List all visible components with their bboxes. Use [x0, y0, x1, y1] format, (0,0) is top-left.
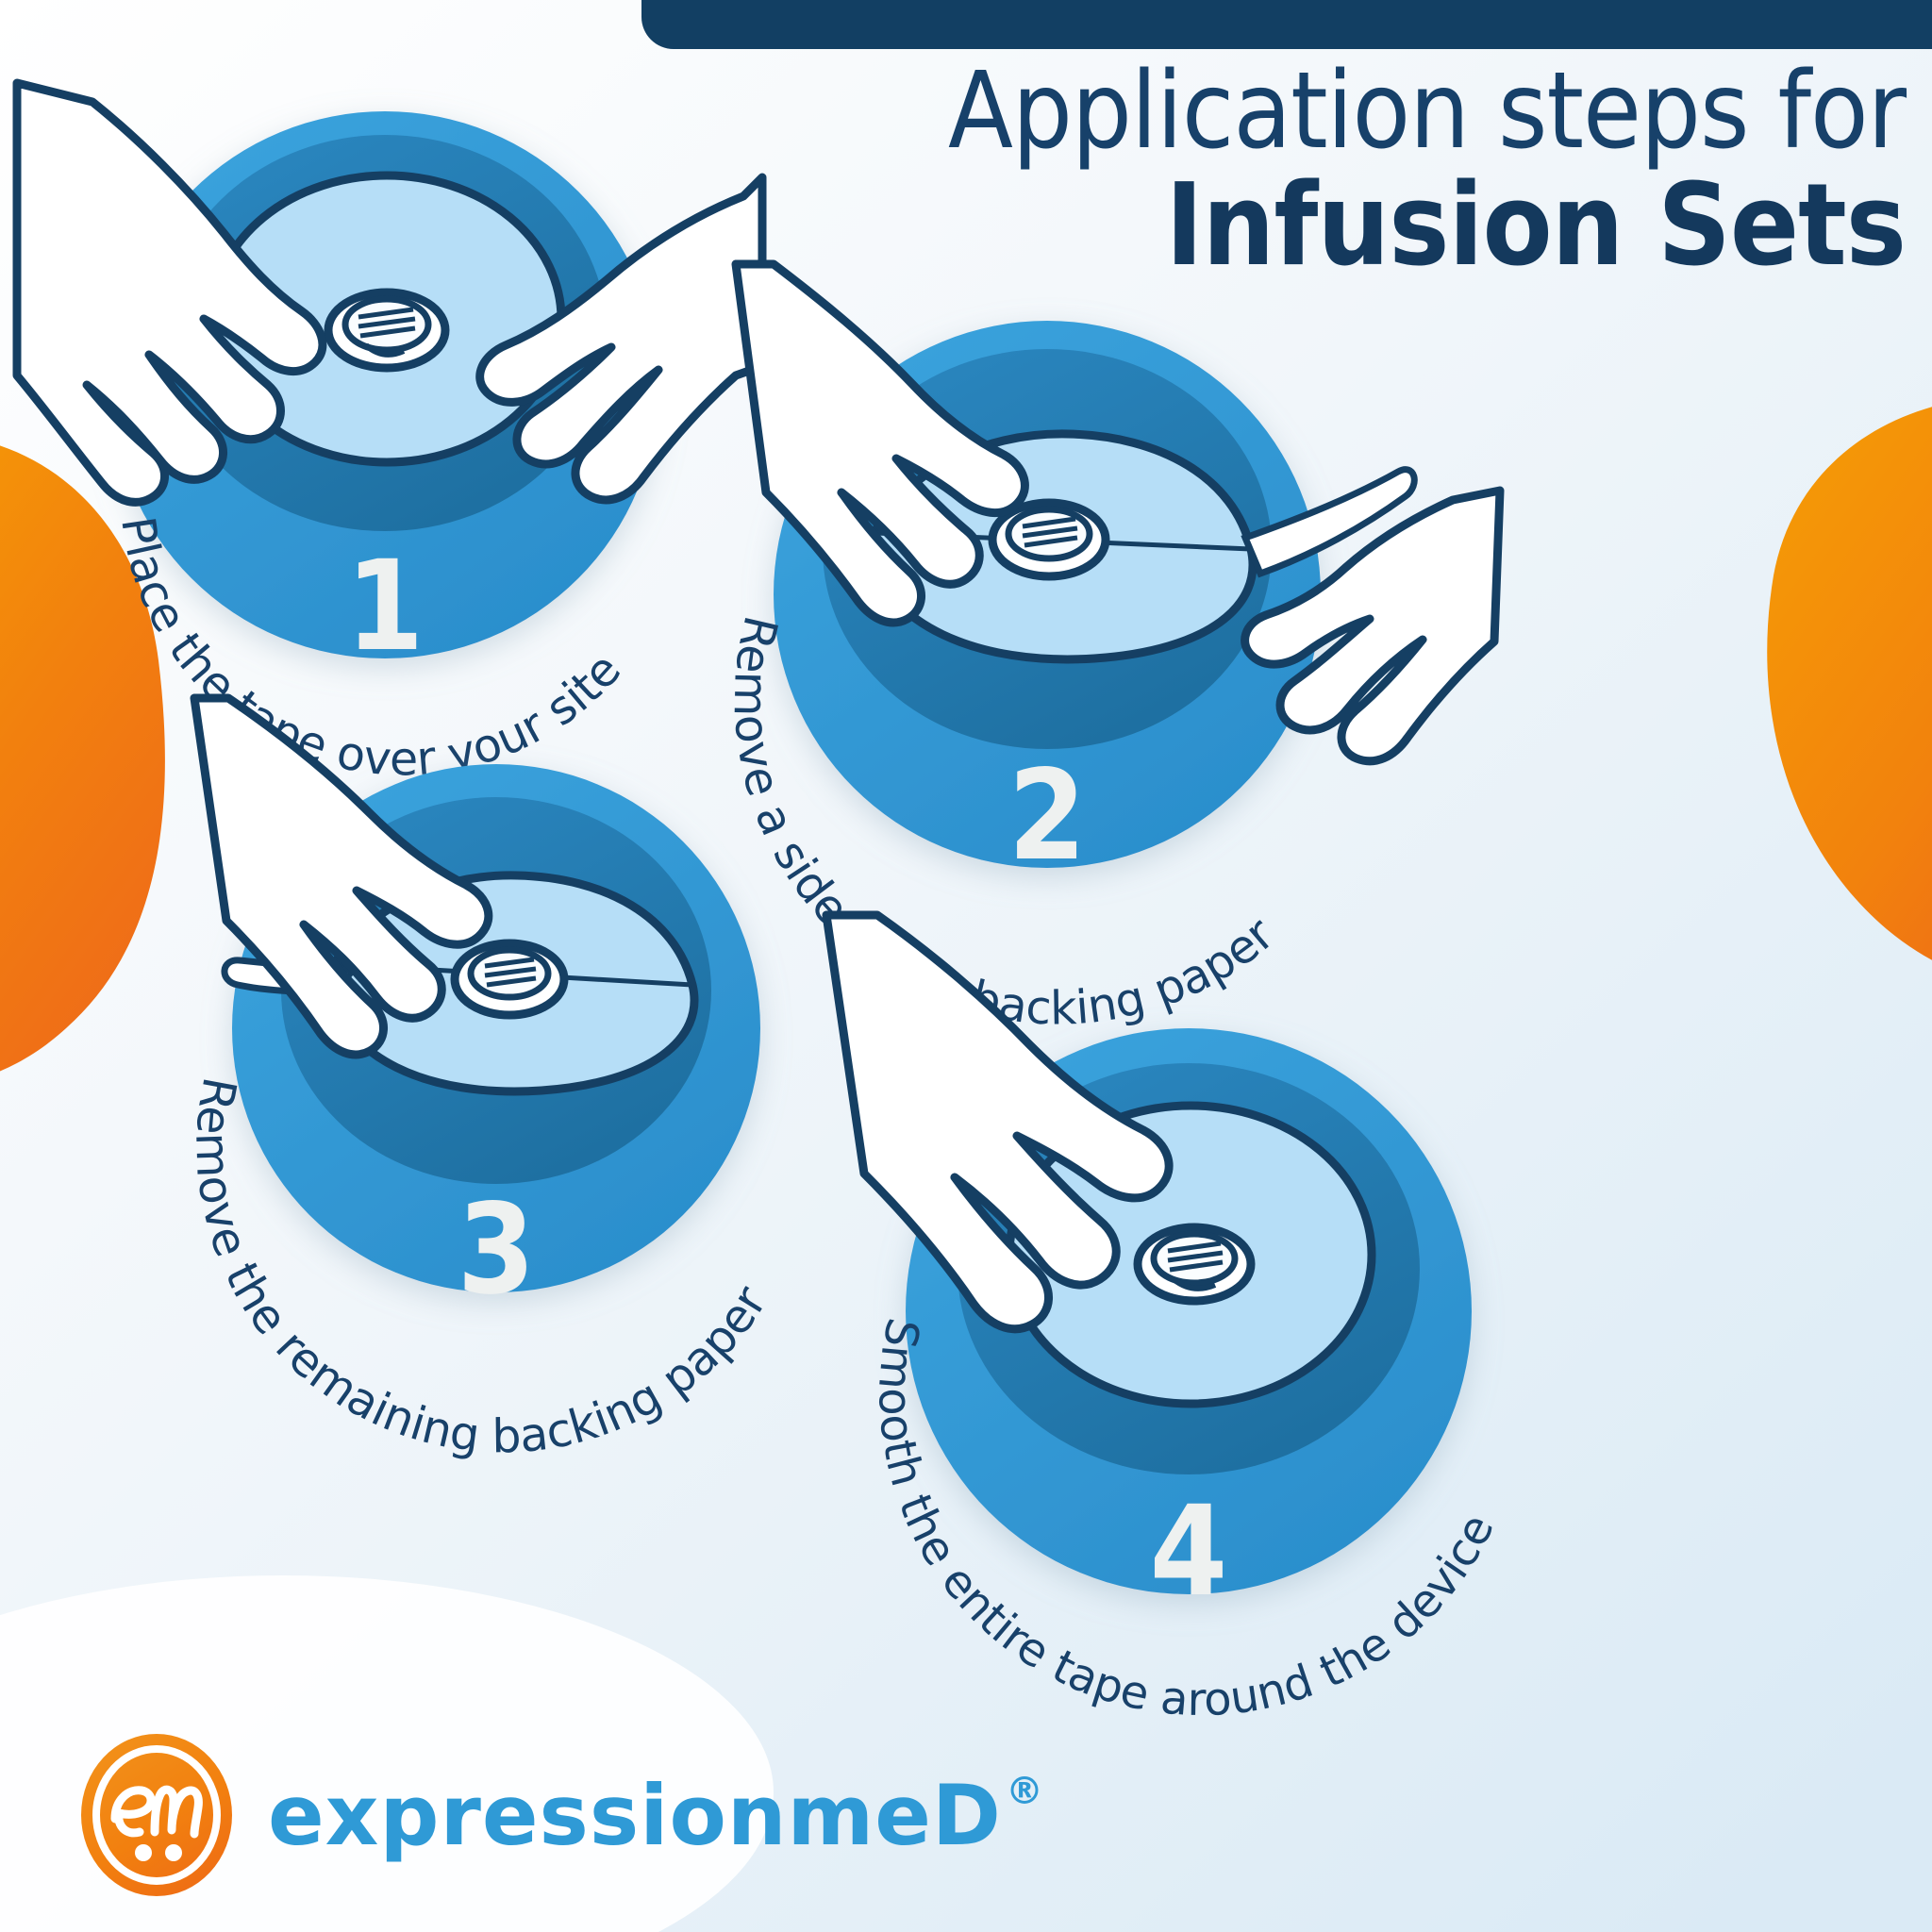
step-2-number: 2 [1008, 743, 1087, 889]
title-line-1: Application steps for [660, 57, 1906, 166]
step-3-number: 3 [458, 1177, 536, 1323]
page-title: Application steps for Infusion Sets [660, 57, 1906, 287]
brand-wordmark: expressionmeD® [268, 1767, 1044, 1864]
step-4: 4 Smooth the entire tape around the devi… [811, 943, 1594, 1792]
registered-mark: ® [1006, 1773, 1044, 1810]
step-1-number: 1 [346, 534, 425, 679]
step-3-infusion-device [455, 943, 564, 1015]
em-logo-icon [74, 1732, 240, 1898]
brand-name: expressionmeD [268, 1767, 1002, 1864]
step-1: 1 Place the tape over your site [83, 83, 743, 800]
step-3: 3 Remove the remaining backing paper [185, 717, 864, 1472]
step-4-infusion-device [1138, 1227, 1251, 1301]
header-bar [641, 0, 1932, 49]
title-line-2: Infusion Sets [660, 166, 1906, 286]
step-4-number: 4 [1150, 1479, 1228, 1624]
brand-logo: expressionmeD® [74, 1732, 1044, 1898]
infographic-canvas: Application steps for Infusion Sets [0, 0, 1932, 1932]
step-1-infusion-device [328, 292, 445, 368]
